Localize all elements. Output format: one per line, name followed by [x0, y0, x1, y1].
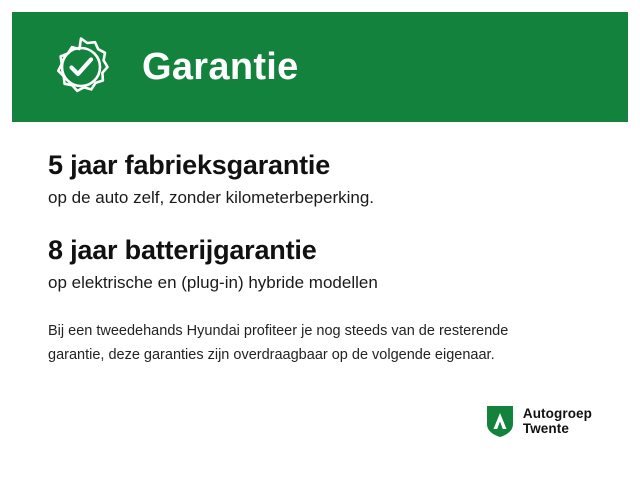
card-header: Garantie — [12, 12, 628, 122]
warranty-note: Bij een tweedehands Hyundai profiteer je… — [48, 320, 592, 367]
dealer-logo-line-1: Autogroep — [523, 406, 592, 421]
dealer-logo: Autogroep Twente — [485, 404, 592, 438]
autogroep-twente-shield-icon — [485, 404, 515, 438]
warranty-title: 5 jaar fabrieksgarantie — [48, 150, 592, 181]
warranty-title: 8 jaar batterijgarantie — [48, 235, 592, 266]
warranty-note-line: garantie, deze garanties zijn overdraagb… — [48, 344, 592, 367]
page-title: Garantie — [142, 48, 299, 86]
dealer-logo-line-2: Twente — [523, 421, 592, 436]
warranty-subtitle: op elektrische en (plug-in) hybride mode… — [48, 272, 592, 294]
warranty-subtitle: op de auto zelf, zonder kilometerbeperki… — [48, 187, 592, 209]
warranty-block-battery: 8 jaar batterijgarantie op elektrische e… — [48, 235, 592, 294]
garantie-card: Garantie 5 jaar fabrieksgarantie op de a… — [0, 0, 640, 480]
check-badge-icon — [48, 34, 114, 100]
card-body: 5 jaar fabrieksgarantie op de auto zelf,… — [12, 122, 628, 468]
warranty-note-line: Bij een tweedehands Hyundai profiteer je… — [48, 320, 592, 343]
dealer-logo-text: Autogroep Twente — [523, 406, 592, 436]
warranty-block-vehicle: 5 jaar fabrieksgarantie op de auto zelf,… — [48, 150, 592, 209]
